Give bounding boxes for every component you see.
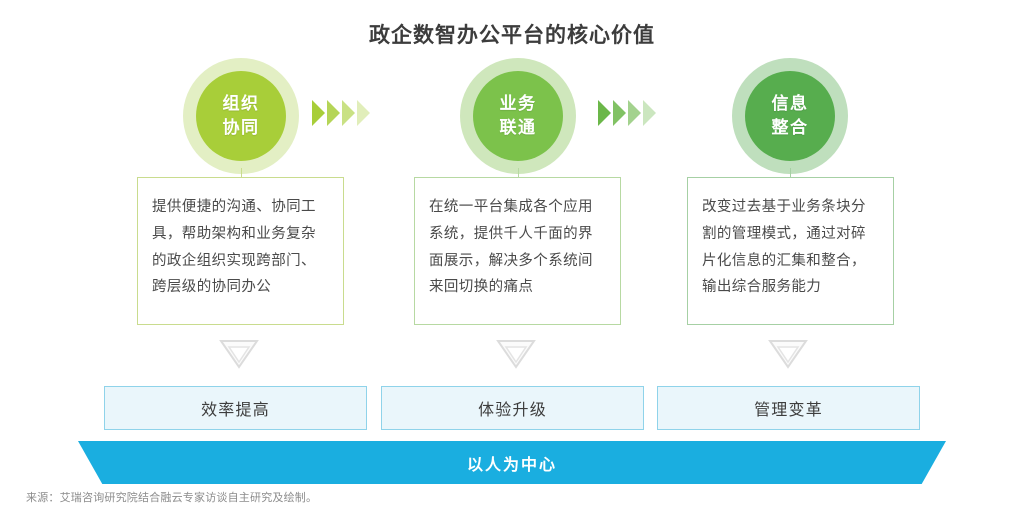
chevron-right-icon: [628, 100, 641, 126]
circle-label-line1: 业务: [500, 92, 537, 116]
outcome-box-efficiency: 效率提高: [104, 386, 367, 430]
circle-label-line1: 组织: [223, 92, 260, 116]
triangle-connector-3: [768, 338, 808, 370]
outcome-box-experience: 体验升级: [381, 386, 644, 430]
circle-label-line2: 协同: [223, 116, 260, 140]
chevron-right-icon: [613, 100, 626, 126]
description-box-organization-collaboration: 提供便捷的沟通、协同工具，帮助架构和业务复杂的政企组织实现跨部门、跨层级的协同办…: [137, 177, 344, 325]
description-box-business-connection: 在统一平台集成各个应用系统，提供千人千面的界面展示，解决多个系统间来回切换的痛点: [414, 177, 621, 325]
pillar-head-information-integration: 信息 整合: [732, 58, 848, 174]
outcome-label: 管理变革: [754, 396, 823, 420]
arrow-group-1: [312, 100, 370, 126]
bottom-banner: 以人为中心: [78, 441, 946, 484]
pillar-head-organization-collaboration: 组织 协同: [183, 58, 299, 174]
circle-label-business-connection: 业务 联通: [473, 71, 563, 161]
outcome-label: 体验升级: [478, 396, 547, 420]
chevron-right-icon: [327, 100, 340, 126]
triangle-connector-1: [219, 338, 259, 370]
circle-label-line1: 信息: [772, 92, 809, 116]
description-box-information-integration: 改变过去基于业务条块分割的管理模式，通过对碎片化信息的汇集和整合，输出综合服务能…: [687, 177, 894, 325]
pillar-head-business-connection: 业务 联通: [460, 58, 576, 174]
circle-label-line2: 联通: [500, 116, 537, 140]
chevron-right-icon: [643, 100, 656, 126]
circle-label-line2: 整合: [772, 116, 809, 140]
chevron-right-icon: [598, 100, 611, 126]
chevron-right-icon: [342, 100, 355, 126]
circle-label-information-integration: 信息 整合: [745, 71, 835, 161]
outcome-label: 效率提高: [201, 396, 270, 420]
banner-label: 以人为中心: [78, 441, 946, 484]
page-title: 政企数智办公平台的核心价值: [0, 19, 1024, 49]
chevron-right-icon: [357, 100, 370, 126]
circle-label-organization-collaboration: 组织 协同: [196, 71, 286, 161]
outcome-box-management: 管理变革: [657, 386, 920, 430]
arrow-group-2: [598, 100, 656, 126]
chevron-right-icon: [312, 100, 325, 126]
infographic-canvas: 政企数智办公平台的核心价值 组织 协同 提供便捷的沟通、协同工具，帮助架构和业务…: [0, 0, 1024, 515]
source-note: 来源：艾瑞咨询研究院结合融云专家访谈自主研究及绘制。: [26, 489, 317, 505]
triangle-connector-2: [496, 338, 536, 370]
